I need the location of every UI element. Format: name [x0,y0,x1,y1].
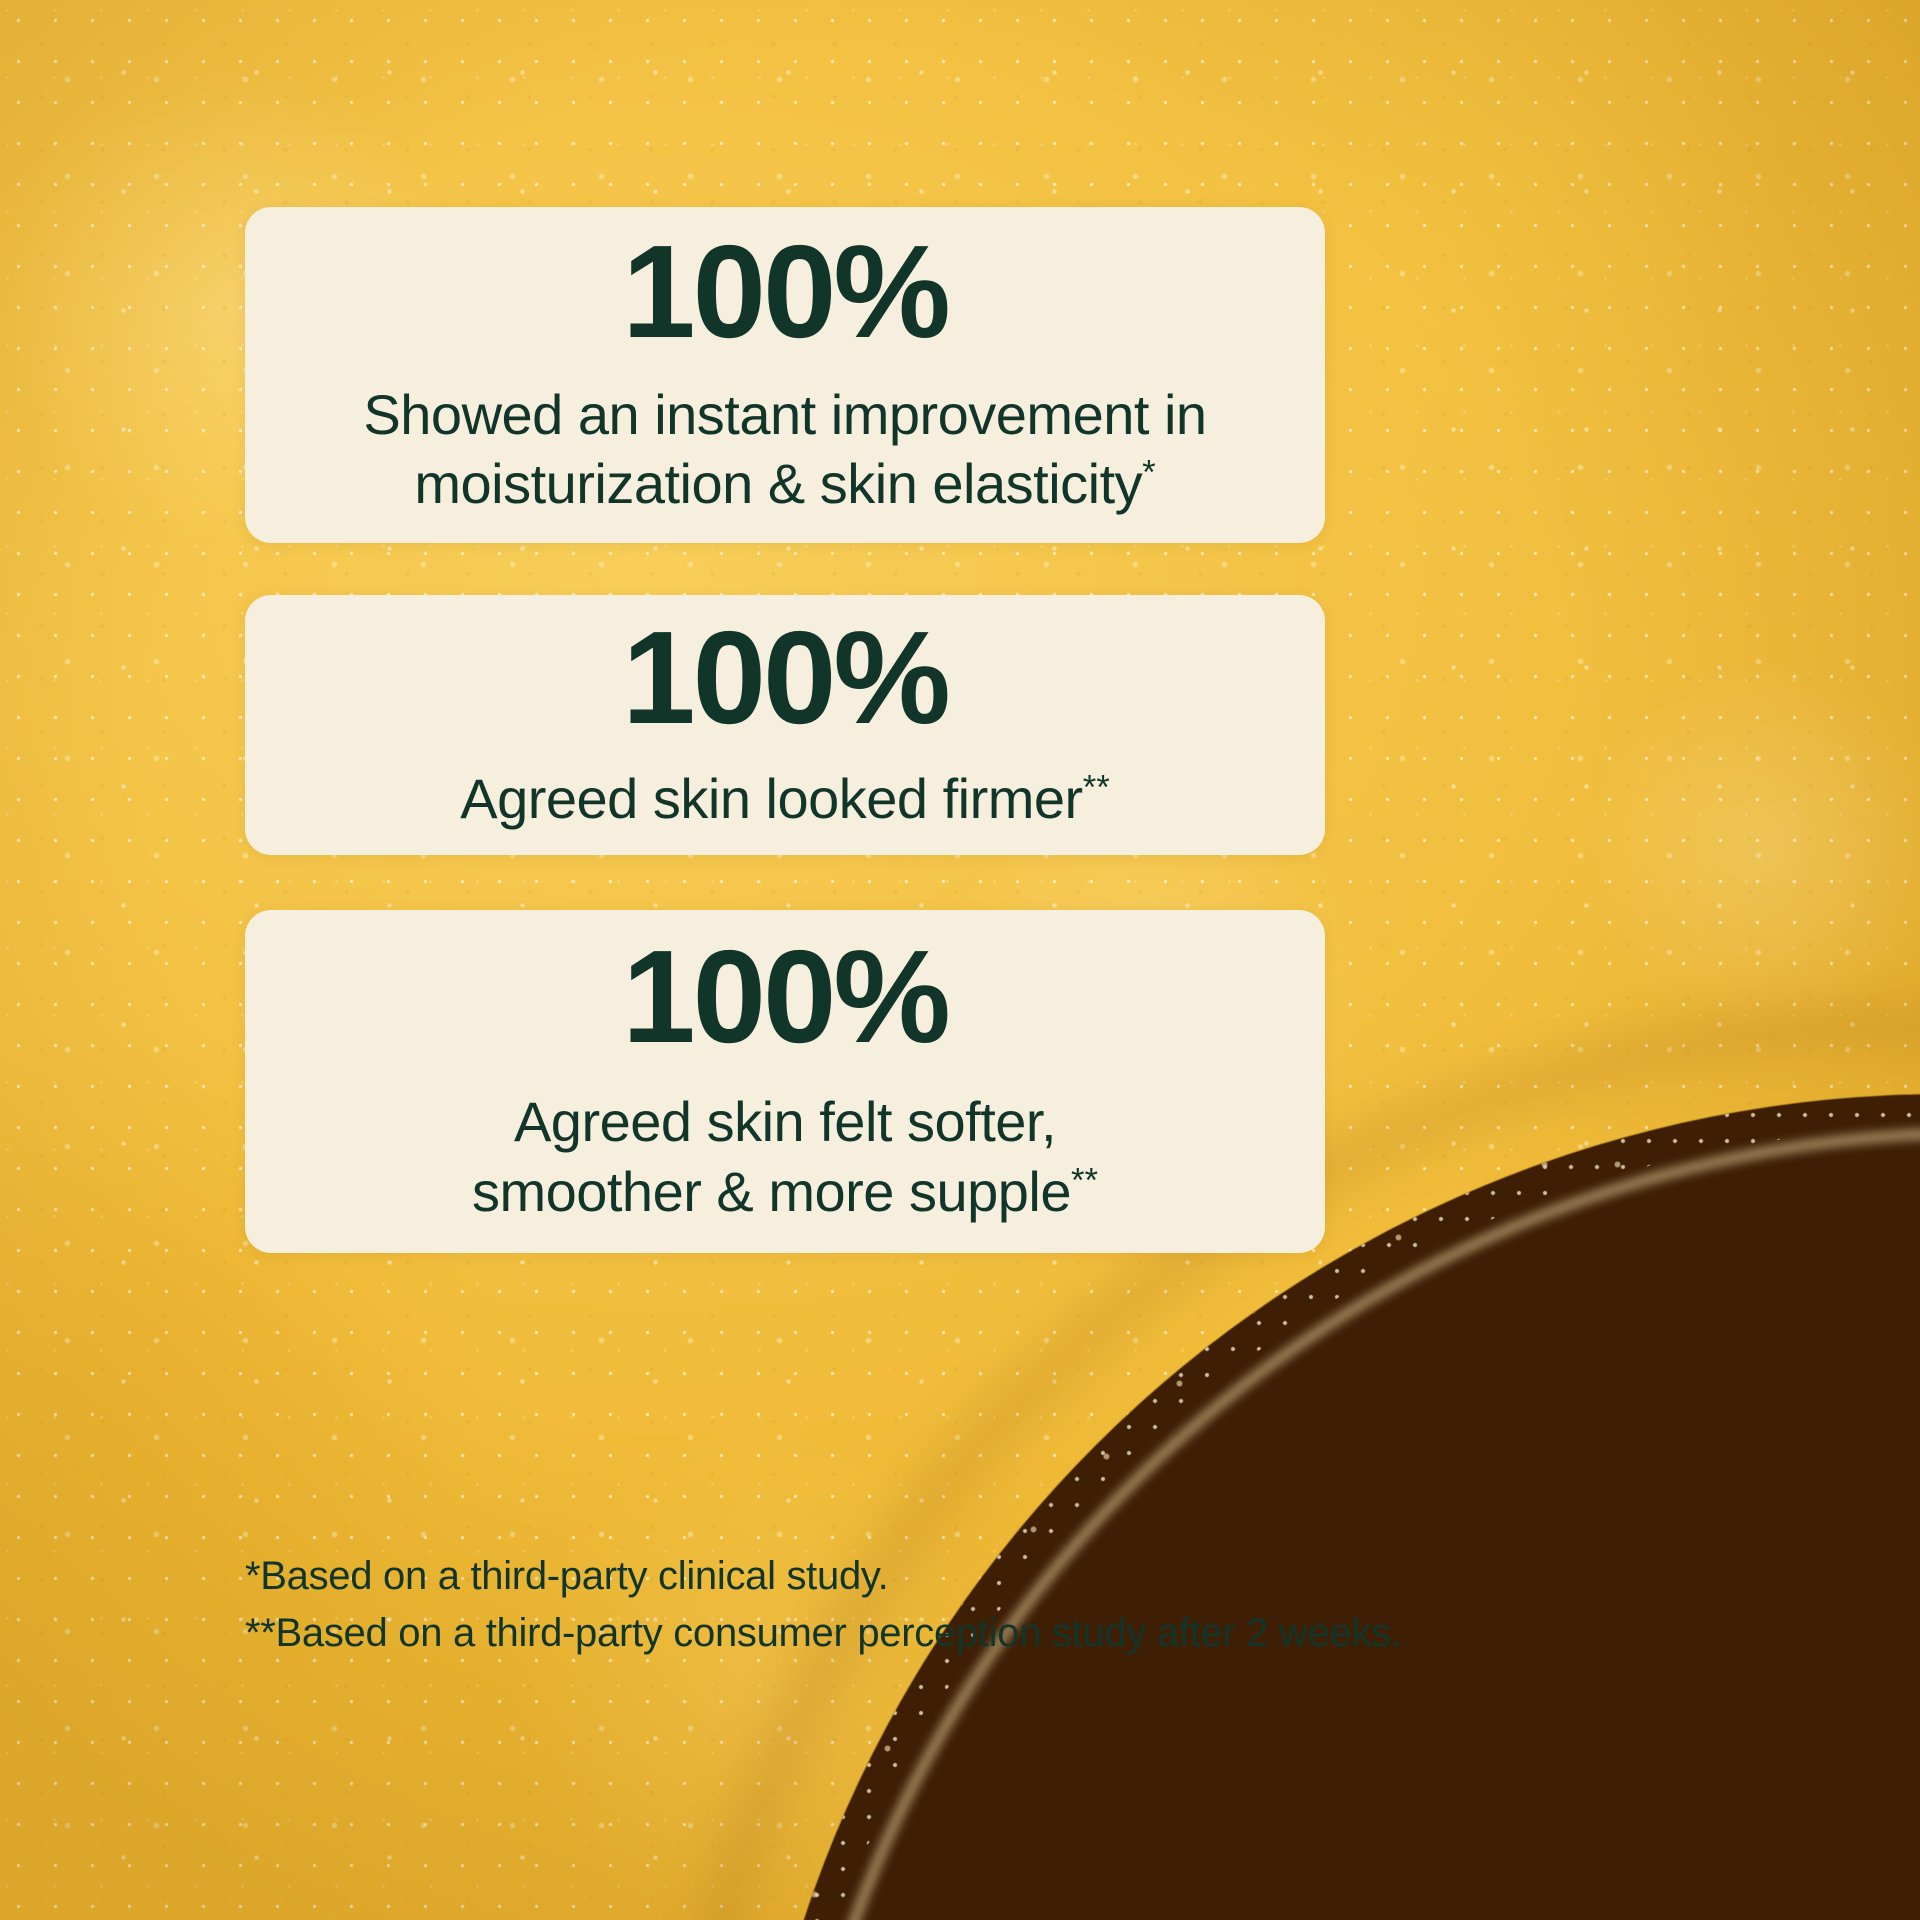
claim-footnote-marker-3: ** [1071,1161,1098,1199]
footnote-1: *Based on a third-party clinical study. [245,1548,1645,1605]
claim-description-3-line-2: smoother & more supple [472,1160,1071,1223]
claim-card-2: 100% Agreed skin looked firmer** [245,595,1325,855]
claim-footnote-marker-1: * [1142,453,1156,491]
claim-description-2: Agreed skin looked firmer** [460,764,1109,833]
footnote-2: **Based on a third-party consumer percep… [245,1605,1645,1662]
claim-description-3-line-1: Agreed skin felt softer, [514,1090,1056,1153]
claim-stat-1: 100% [622,226,948,358]
claim-description-2-line-1: Agreed skin looked firmer [460,767,1082,830]
claim-stat-2: 100% [622,612,948,744]
claim-card-3: 100% Agreed skin felt softer, smoother &… [245,910,1325,1253]
claim-description-1: Showed an instant improvement in moistur… [363,380,1206,519]
claim-card-1: 100% Showed an instant improvement in mo… [245,207,1325,543]
claims-content: 100% Showed an instant improvement in mo… [0,0,1920,1920]
claim-stat-3: 100% [622,931,948,1063]
claim-description-1-line-1: Showed an instant improvement in [363,383,1206,446]
claim-description-1-line-2: moisturization & skin elasticity [414,452,1142,515]
claims-graphic: 100% Showed an instant improvement in mo… [0,0,1920,1920]
claim-description-3: Agreed skin felt softer, smoother & more… [472,1087,1098,1226]
claim-footnote-marker-2: ** [1083,769,1110,807]
footnotes: *Based on a third-party clinical study. … [245,1548,1645,1662]
